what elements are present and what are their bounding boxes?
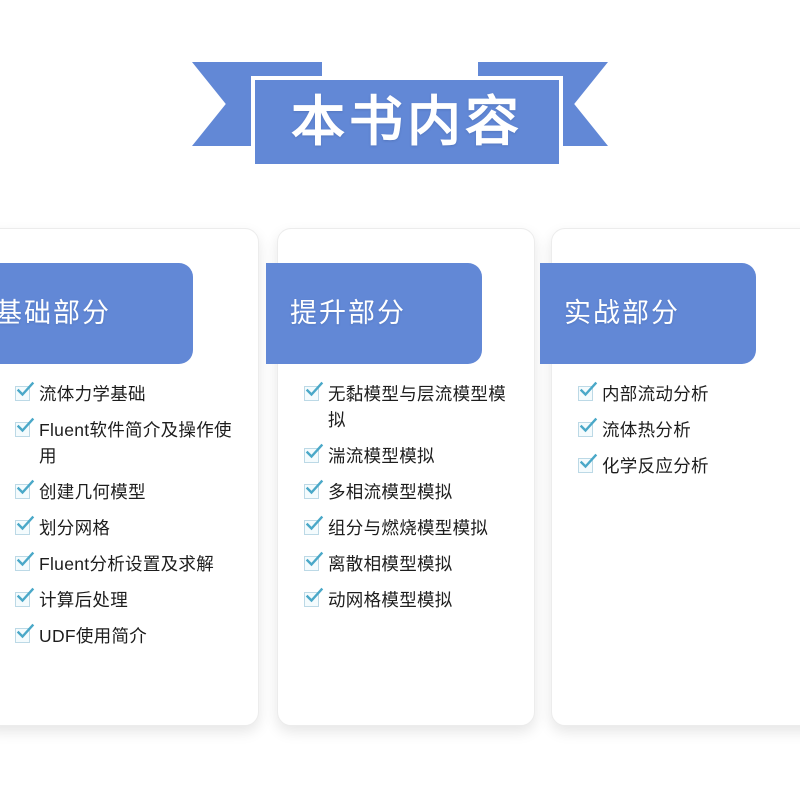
list-item[interactable]: 流体力学基础 — [15, 381, 246, 407]
card-badge-practice: 实战部分 — [540, 263, 756, 364]
check-icon — [304, 592, 319, 607]
check-icon — [15, 628, 30, 643]
list-item-label: UDF使用简介 — [39, 623, 147, 649]
list-item[interactable]: UDF使用简介 — [15, 623, 246, 649]
list-item-label: 创建几何模型 — [39, 479, 146, 505]
check-icon — [304, 386, 319, 401]
card-list-advanced: 无黏模型与层流模型模拟 湍流模型模拟 多相流模型模拟 — [278, 381, 534, 623]
check-icon — [304, 556, 319, 571]
check-icon — [15, 484, 30, 499]
list-item-label: 流体热分析 — [602, 417, 691, 443]
check-icon — [15, 556, 30, 571]
list-item-label: 动网格模型模拟 — [328, 587, 453, 613]
card-badge-label: 基础部分 — [0, 300, 111, 327]
list-item-label: 多相流模型模拟 — [328, 479, 453, 505]
check-icon — [15, 520, 30, 535]
list-item[interactable]: 动网格模型模拟 — [304, 587, 522, 613]
list-item-label: Fluent分析设置及求解 — [39, 551, 214, 577]
list-item-label: 无黏模型与层流模型模拟 — [328, 381, 522, 433]
list-item[interactable]: 离散相模型模拟 — [304, 551, 522, 577]
list-item[interactable]: 内部流动分析 — [578, 381, 800, 407]
list-item[interactable]: Fluent分析设置及求解 — [15, 551, 246, 577]
check-icon — [304, 448, 319, 463]
infographic-page: 本书内容 基础部分 流体力学基础 Fluent软件简 — [0, 0, 800, 800]
card-list-basic: 流体力学基础 Fluent软件简介及操作使用 创建几何模型 — [0, 381, 258, 659]
banner-center-plate: 本书内容 — [251, 76, 563, 168]
list-item-label: 离散相模型模拟 — [328, 551, 453, 577]
list-item[interactable]: 计算后处理 — [15, 587, 246, 613]
list-item[interactable]: 无黏模型与层流模型模拟 — [304, 381, 522, 433]
card-badge-basic: 基础部分 — [0, 263, 193, 364]
check-icon — [15, 386, 30, 401]
check-icon — [578, 386, 593, 401]
card-badge-advanced: 提升部分 — [266, 263, 482, 364]
list-item-label: 计算后处理 — [39, 587, 128, 613]
check-icon — [578, 458, 593, 473]
list-item[interactable]: 化学反应分析 — [578, 453, 800, 479]
card-basic-section: 基础部分 流体力学基础 Fluent软件简介及操作使用 — [0, 228, 259, 726]
page-title: 本书内容 — [291, 95, 523, 149]
check-icon — [15, 592, 30, 607]
list-item-label: 组分与燃烧模型模拟 — [328, 515, 488, 541]
check-icon — [304, 484, 319, 499]
check-icon — [578, 422, 593, 437]
list-item[interactable]: 湍流模型模拟 — [304, 443, 522, 469]
list-item[interactable]: 组分与燃烧模型模拟 — [304, 515, 522, 541]
list-item[interactable]: 多相流模型模拟 — [304, 479, 522, 505]
list-item-label: 流体力学基础 — [39, 381, 146, 407]
list-item-label: 划分网格 — [39, 515, 110, 541]
card-practice-section: 实战部分 内部流动分析 流体热分析 — [551, 228, 800, 726]
list-item[interactable]: Fluent软件简介及操作使用 — [15, 417, 246, 469]
banner: 本书内容 — [0, 0, 800, 200]
check-icon — [304, 520, 319, 535]
list-item[interactable]: 划分网格 — [15, 515, 246, 541]
list-item[interactable]: 创建几何模型 — [15, 479, 246, 505]
list-item-label: 化学反应分析 — [602, 453, 709, 479]
card-list-practice: 内部流动分析 流体热分析 化学反应分析 — [552, 381, 800, 489]
list-item-label: 湍流模型模拟 — [328, 443, 435, 469]
check-icon — [15, 422, 30, 437]
list-item-label: 内部流动分析 — [602, 381, 709, 407]
list-item[interactable]: 流体热分析 — [578, 417, 800, 443]
list-item-label: Fluent软件简介及操作使用 — [39, 417, 239, 469]
card-advanced-section: 提升部分 无黏模型与层流模型模拟 湍流模型模拟 — [277, 228, 535, 726]
cards-container: 基础部分 流体力学基础 Fluent软件简介及操作使用 — [0, 228, 800, 728]
card-badge-label: 实战部分 — [540, 300, 680, 327]
card-badge-label: 提升部分 — [266, 300, 406, 327]
